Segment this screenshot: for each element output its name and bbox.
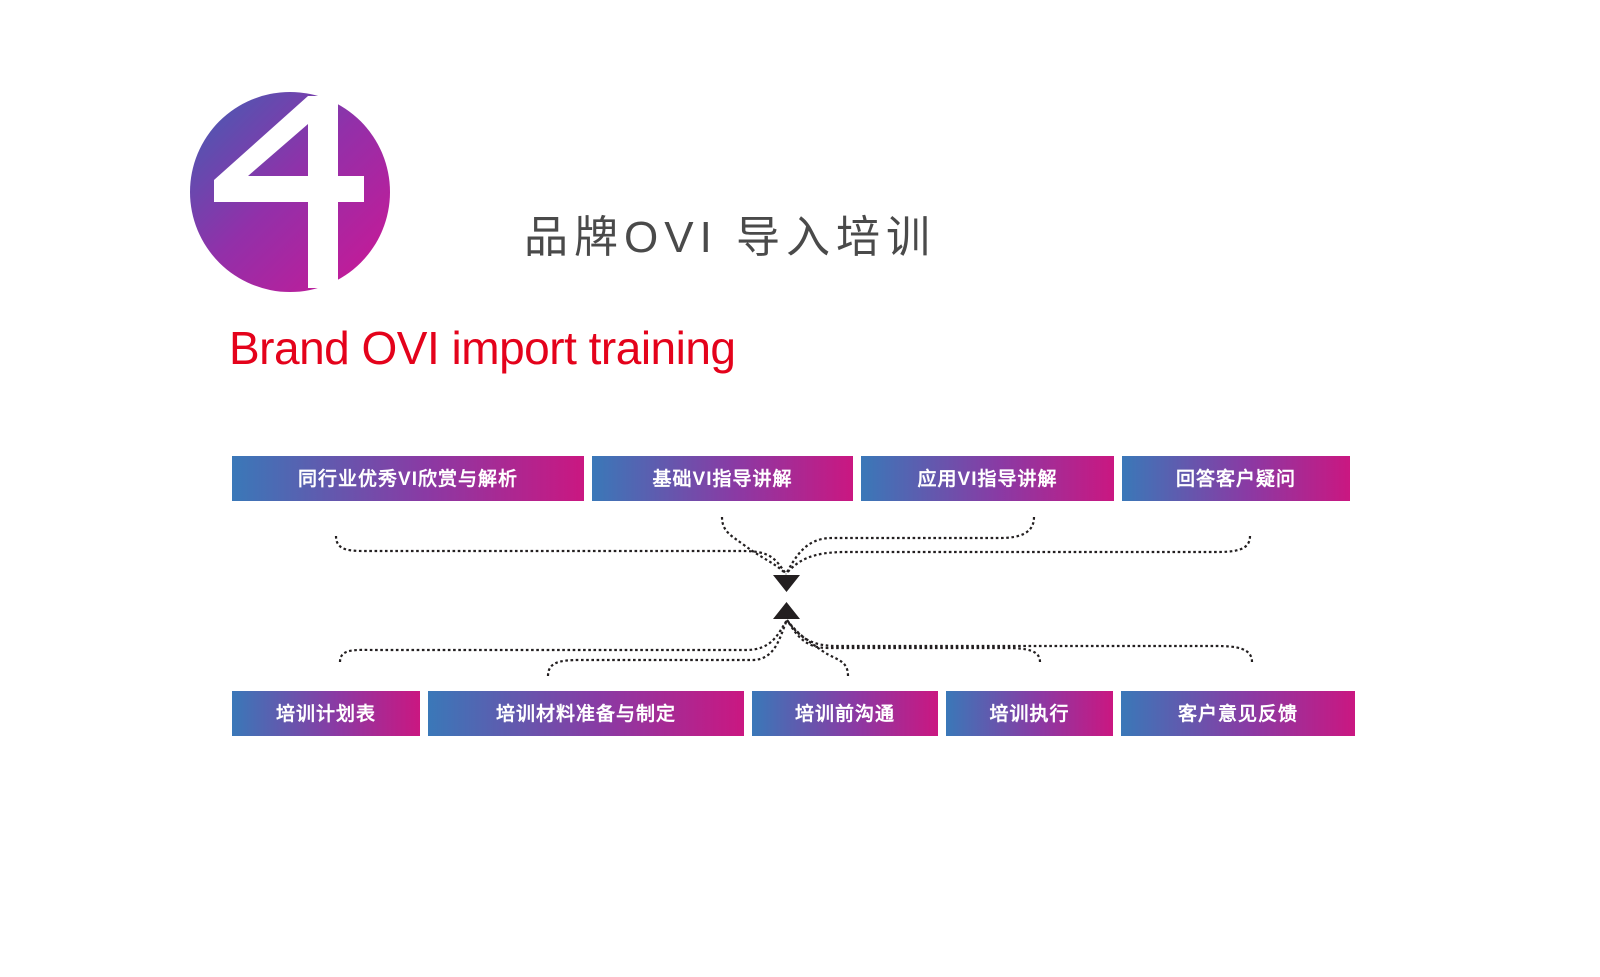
top-bar-item-3[interactable]: 应用VI指导讲解 bbox=[861, 456, 1114, 501]
top-connector-1 bbox=[336, 536, 786, 574]
bottom-bar-item-1[interactable]: 培训计划表 bbox=[232, 691, 420, 736]
top-connector-2 bbox=[722, 517, 786, 574]
top-bar-row: 同行业优秀VI欣赏与解析 基础VI指导讲解 应用VI指导讲解 回答客户疑问 bbox=[232, 456, 1350, 501]
top-bar-label-2: 基础VI指导讲解 bbox=[653, 470, 793, 489]
bottom-bar-label-3: 培训前沟通 bbox=[795, 705, 895, 724]
down-arrow bbox=[773, 575, 800, 592]
bottom-bar-label-2: 培训材料准备与制定 bbox=[496, 705, 676, 724]
top-bar-item-4[interactable]: 回答客户疑问 bbox=[1122, 456, 1350, 501]
top-bar-item-1[interactable]: 同行业优秀VI欣赏与解析 bbox=[232, 456, 584, 501]
top-bar-label-1: 同行业优秀VI欣赏与解析 bbox=[298, 470, 518, 489]
bottom-connector-lines bbox=[340, 602, 1252, 676]
page-title-en: Brand OVI import training bbox=[229, 322, 736, 375]
top-connector-lines bbox=[336, 517, 1250, 592]
top-connector-4 bbox=[786, 536, 1250, 574]
bottom-bar-item-2[interactable]: 培训材料准备与制定 bbox=[428, 691, 744, 736]
bottom-connector-5 bbox=[787, 620, 1252, 662]
bottom-bar-item-5[interactable]: 客户意见反馈 bbox=[1121, 691, 1355, 736]
top-bar-item-2[interactable]: 基础VI指导讲解 bbox=[592, 456, 853, 501]
slide-number-logo bbox=[186, 88, 406, 298]
number-four-badge-icon bbox=[186, 88, 406, 298]
bottom-connector-1 bbox=[340, 620, 787, 662]
top-connector-3 bbox=[786, 517, 1034, 574]
bottom-bar-row: 培训计划表 培训材料准备与制定 培训前沟通 培训执行 客户意见反馈 bbox=[232, 691, 1355, 736]
bottom-connector-4 bbox=[787, 620, 1040, 662]
bottom-bar-label-5: 客户意见反馈 bbox=[1178, 705, 1298, 724]
top-bar-label-3: 应用VI指导讲解 bbox=[918, 470, 1058, 489]
bottom-connector-3 bbox=[787, 620, 848, 676]
top-bar-label-4: 回答客户疑问 bbox=[1176, 470, 1296, 489]
slide-canvas: 品牌OVI 导入培训 Brand OVI import training 同行业… bbox=[0, 0, 1600, 977]
bottom-bar-item-4[interactable]: 培训执行 bbox=[946, 691, 1113, 736]
bottom-bar-label-4: 培训执行 bbox=[989, 705, 1069, 724]
bottom-bar-label-1: 培训计划表 bbox=[276, 705, 376, 724]
up-arrow bbox=[773, 602, 800, 619]
bottom-connector-2 bbox=[548, 620, 787, 676]
bottom-bar-item-3[interactable]: 培训前沟通 bbox=[752, 691, 938, 736]
page-title-cn: 品牌OVI 导入培训 bbox=[524, 212, 936, 265]
